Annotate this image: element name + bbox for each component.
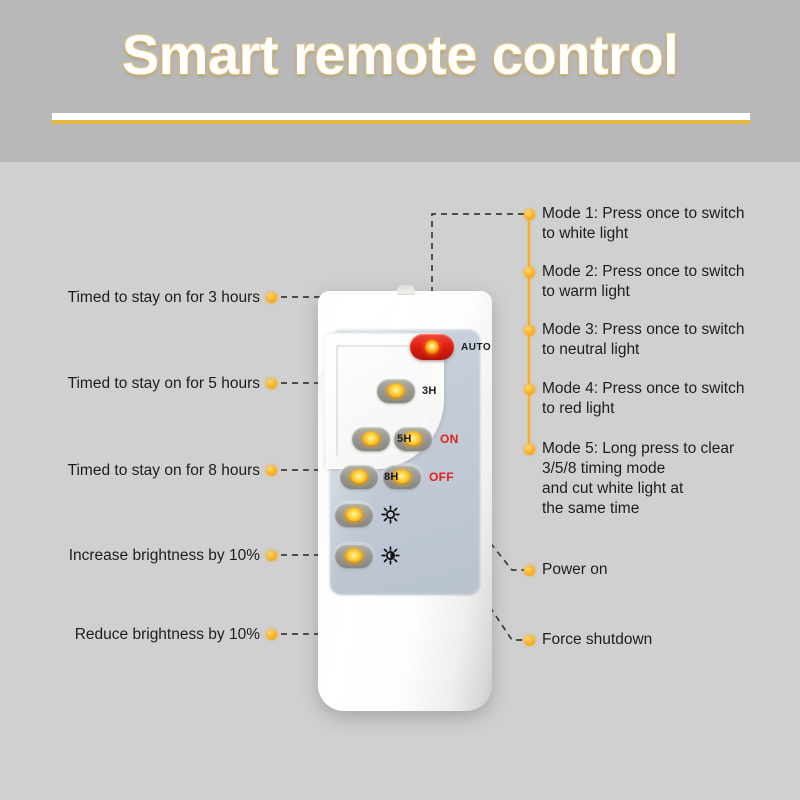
label-mode-1: Mode 1: Press once to switch to white li… [542, 204, 792, 244]
button-3h[interactable] [377, 379, 415, 403]
dot-mode-4 [524, 384, 535, 395]
button-brightness-up-lens [345, 508, 363, 523]
label-brightness-down: Reduce brightness by 10% [10, 625, 260, 645]
button-3h-lens [387, 384, 405, 399]
button-8h-lens [350, 470, 368, 485]
label-mode-2: Mode 2: Press once to switch to warm lig… [542, 262, 792, 302]
dot-mode-2 [524, 267, 535, 278]
button-auto[interactable] [410, 334, 454, 360]
button-auto-label: AUTO [461, 342, 491, 353]
dot-timer-5h [266, 378, 277, 389]
label-timer-8h: Timed to stay on for 8 hours [10, 461, 260, 481]
button-off-label: OFF [429, 470, 454, 484]
dot-force-shutdown [524, 635, 535, 646]
label-timer-3h: Timed to stay on for 3 hours [10, 288, 260, 308]
ir-emitter [397, 285, 415, 295]
poster-canvas: Smart remote control [0, 0, 800, 800]
label-mode-4: Mode 4: Press once to switch to red ligh… [542, 379, 792, 419]
dot-mode-3 [524, 325, 535, 336]
button-5h-lens [362, 432, 380, 447]
button-brightness-down[interactable] [335, 544, 373, 568]
button-8h[interactable] [340, 465, 378, 489]
label-power-on: Power on [542, 560, 792, 580]
half-sun-icon [381, 546, 400, 565]
button-3h-label: 3H [422, 385, 437, 397]
dot-brightness-up [266, 550, 277, 561]
button-on-label: ON [440, 432, 459, 446]
label-mode-3: Mode 3: Press once to switch to neutral … [542, 320, 792, 360]
button-brightness-down-lens [345, 549, 363, 564]
button-5h-label: 5H [397, 433, 412, 445]
label-brightness-up: Increase brightness by 10% [10, 546, 260, 566]
button-auto-lens [425, 340, 439, 354]
button-5h[interactable] [352, 427, 390, 451]
dot-mode-5 [524, 444, 535, 455]
button-8h-label: 8H [384, 471, 399, 483]
dot-power-on [524, 565, 535, 576]
dot-timer-3h [266, 292, 277, 303]
label-mode-5: Mode 5: Long press to clear 3/5/8 timing… [542, 439, 797, 519]
sun-icon [381, 505, 400, 524]
label-timer-5h: Timed to stay on for 5 hours [10, 374, 260, 394]
dot-timer-8h [266, 465, 277, 476]
dot-brightness-down [266, 629, 277, 640]
remote-control-device: AUTO 3H 5H ON 8H OFF [318, 291, 492, 711]
label-force-shutdown: Force shutdown [542, 630, 792, 650]
button-brightness-up[interactable] [335, 503, 373, 527]
dot-mode-1 [524, 209, 535, 220]
